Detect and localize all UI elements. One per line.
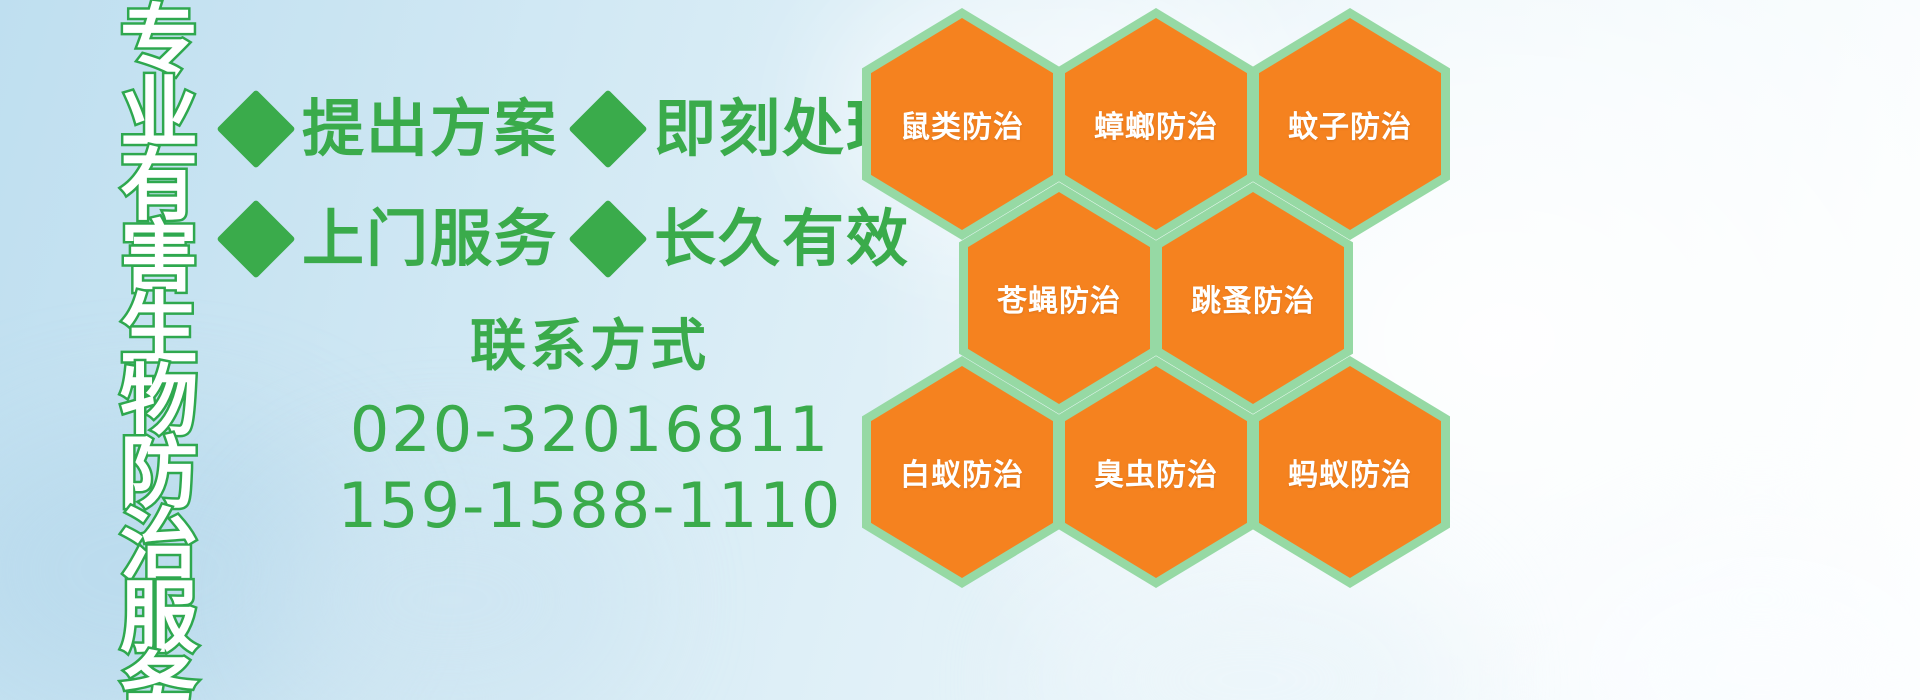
contact-block: 联系方式 020-32016811 159-1588-1110 [310, 316, 870, 545]
diamond-bullet-icon [216, 199, 295, 278]
phone-number-mobile[interactable]: 159-1588-1110 [310, 468, 870, 545]
vertical-headline-char: 务 [120, 654, 198, 700]
vertical-headline-char: 治 [120, 510, 198, 582]
contact-heading: 联系方式 [310, 316, 870, 378]
vertical-headline-char: 业 [120, 78, 198, 150]
vertical-headline-char: 有 [120, 150, 198, 222]
feature-item: 提出方案 [228, 98, 558, 160]
service-label: 蟑螂防治 [1056, 102, 1256, 146]
vertical-headline-char: 专 [120, 6, 198, 78]
feature-label: 上门服务 [302, 208, 558, 270]
vertical-headline: 专 业 有 害 生 物 防 治 服 务 [104, 6, 214, 700]
service-label: 鼠类防治 [862, 102, 1062, 146]
diamond-bullet-icon [568, 199, 647, 278]
feature-list: 提出方案 即刻处理 上门服务 长久有效 [228, 74, 868, 294]
diamond-bullet-icon [216, 89, 295, 168]
vertical-headline-char: 生 [120, 294, 198, 366]
vertical-headline-char: 服 [120, 582, 198, 654]
feature-label: 提出方案 [302, 98, 558, 160]
feature-row: 提出方案 即刻处理 [228, 74, 868, 184]
vertical-headline-char: 害 [120, 222, 198, 294]
background-haze-blob [1560, 540, 1920, 700]
service-hex-ant[interactable]: 蚂蚁防治 [1250, 356, 1450, 588]
feature-item: 长久有效 [580, 208, 910, 270]
vertical-headline-char: 防 [120, 438, 198, 510]
feature-item: 上门服务 [228, 208, 558, 270]
service-label: 跳蚤防治 [1153, 276, 1353, 320]
service-label: 臭虫防治 [1056, 450, 1256, 494]
pest-control-banner: 专 业 有 害 生 物 防 治 服 务 提出方案 即刻处理 上门服务 [0, 0, 1920, 700]
service-label: 苍蝇防治 [959, 276, 1159, 320]
feature-row: 上门服务 长久有效 [228, 184, 868, 294]
service-label: 蚊子防治 [1250, 102, 1450, 146]
feature-item: 即刻处理 [580, 98, 910, 160]
service-label: 蚂蚁防治 [1250, 450, 1450, 494]
diamond-bullet-icon [568, 89, 647, 168]
service-hex-bedbug[interactable]: 臭虫防治 [1056, 356, 1256, 588]
service-label: 白蚁防治 [862, 450, 1062, 494]
phone-number-landline[interactable]: 020-32016811 [310, 392, 870, 469]
vertical-headline-char: 物 [120, 366, 198, 438]
service-hex-termite[interactable]: 白蚁防治 [862, 356, 1062, 588]
service-honeycomb: 鼠类防治 蟑螂防治 蚊子防治 苍蝇防治 跳蚤防治 白蚁防治 [862, 0, 1462, 700]
